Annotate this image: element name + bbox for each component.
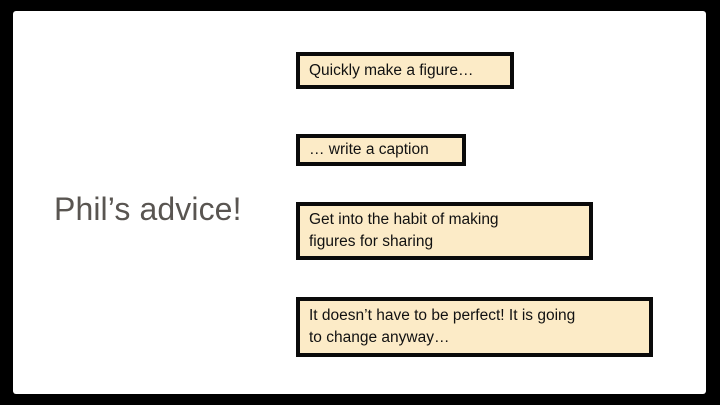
- page-title: Phil’s advice!: [54, 188, 242, 230]
- callout-box-habit-of-making-figures: Get into the habit of making figures for…: [296, 202, 593, 260]
- callout-box-doesnt-have-to-be-perfect: It doesn’t have to be perfect! It is goi…: [296, 297, 653, 357]
- callout-line: Quickly make a figure…: [309, 60, 501, 82]
- callout-line: figures for sharing: [309, 231, 580, 253]
- slide-canvas: Phil’s advice! Quickly make a figure… … …: [13, 11, 706, 394]
- callout-box-write-a-caption: … write a caption: [296, 134, 466, 166]
- callout-line: to change anyway…: [309, 327, 640, 349]
- callout-line: … write a caption: [309, 139, 453, 161]
- slide-frame: Phil’s advice! Quickly make a figure… … …: [0, 0, 720, 405]
- callout-line: It doesn’t have to be perfect! It is goi…: [309, 305, 640, 327]
- callout-line: Get into the habit of making: [309, 209, 580, 231]
- callout-box-quickly-make-a-figure: Quickly make a figure…: [296, 52, 514, 89]
